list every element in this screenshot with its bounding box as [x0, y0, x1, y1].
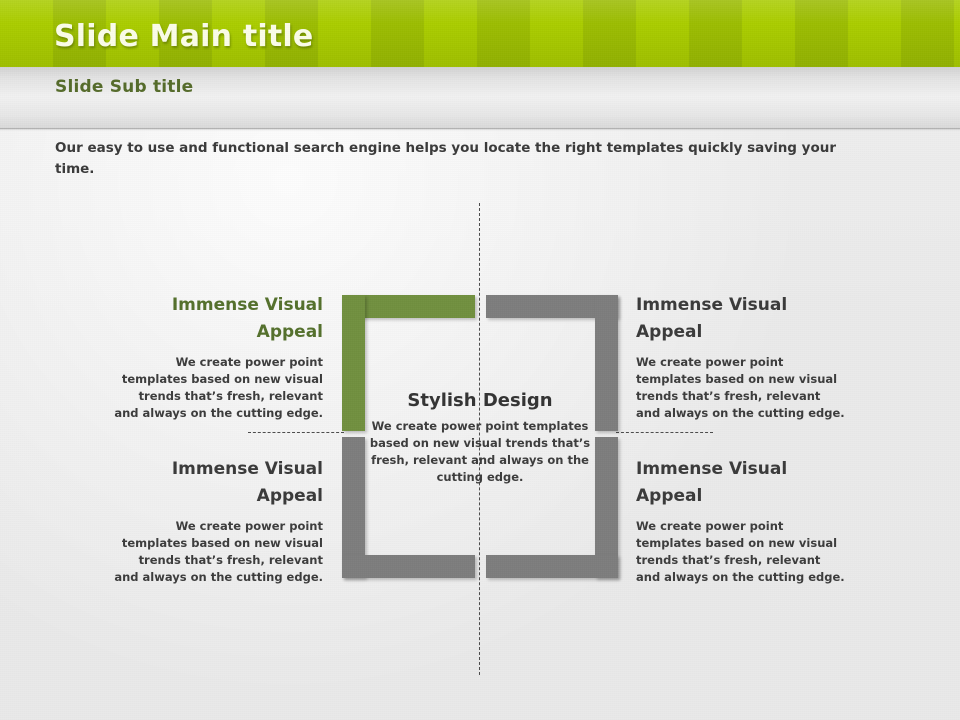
bracket-bottom-left-horizontal-arm: [342, 555, 475, 578]
bracket-top-right-vertical-arm: [595, 295, 618, 431]
quadrant-bottom-right: Immense Visual Appeal We create power po…: [636, 456, 846, 586]
quadrant-top-right-heading: Immense Visual Appeal: [636, 292, 846, 346]
bracket-bottom-right-horizontal-arm: [486, 555, 618, 578]
center-heading: Stylish Design: [365, 388, 595, 414]
center-text-block: Stylish Design We create power point tem…: [365, 388, 595, 486]
quadrant-top-left: Immense Visual Appeal We create power po…: [113, 292, 323, 422]
horizontal-dashed-divider-right: [616, 432, 713, 433]
horizontal-dashed-divider-left: [248, 432, 344, 433]
slide-canvas: Slide Main title Slide Sub title Our eas…: [0, 0, 960, 720]
quadrant-bottom-left-heading: Immense Visual Appeal: [113, 456, 323, 510]
quadrant-bottom-left: Immense Visual Appeal We create power po…: [113, 456, 323, 586]
four-quadrant-diagram: Stylish Design We create power point tem…: [0, 0, 960, 720]
quadrant-bottom-right-body: We create power point templates based on…: [636, 518, 846, 586]
quadrant-top-left-body: We create power point templates based on…: [113, 354, 323, 422]
quadrant-bottom-right-heading: Immense Visual Appeal: [636, 456, 846, 510]
quadrant-top-left-heading: Immense Visual Appeal: [113, 292, 323, 346]
center-body-text: We create power point templates based on…: [365, 418, 595, 486]
quadrant-top-right-body: We create power point templates based on…: [636, 354, 846, 422]
quadrant-bottom-left-body: We create power point templates based on…: [113, 518, 323, 586]
quadrant-top-right: Immense Visual Appeal We create power po…: [636, 292, 846, 422]
bracket-top-left-vertical-arm: [342, 295, 365, 431]
